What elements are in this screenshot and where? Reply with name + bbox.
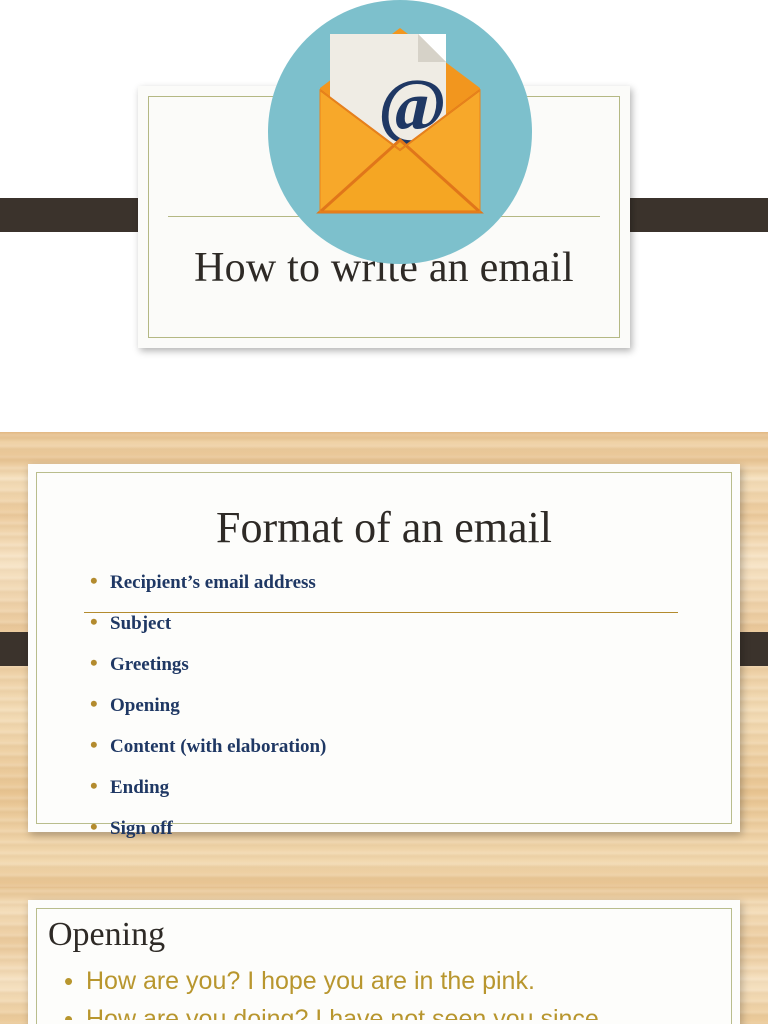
list-item-label: Subject (110, 613, 171, 634)
list-item: How are you doing? I have not seen you s… (64, 1000, 720, 1020)
slide-title: How to write an email @ (0, 0, 768, 432)
format-list: Recipient’s email address Subject Greeti… (88, 570, 700, 857)
list-item: Ending (88, 775, 700, 816)
list-item: Opening (88, 693, 700, 734)
list-item-label: Ending (110, 777, 169, 798)
list-item-label: Opening (110, 695, 180, 716)
list-item-label: Greetings (110, 654, 189, 675)
list-item: Greetings (88, 652, 700, 693)
slide-title: Format of an email (28, 502, 740, 553)
presentation-page: How to write an email @ (0, 0, 768, 1024)
slide-title: Opening (48, 916, 165, 954)
opening-examples-list: How are you? I hope you are in the pink.… (64, 962, 720, 1020)
list-item: Sign off (88, 816, 700, 857)
list-item: Content (with elaboration) (88, 734, 700, 775)
list-item-label: How are you doing? I have not seen you s… (86, 1005, 627, 1020)
list-item-label: Content (with elaboration) (110, 736, 326, 757)
email-envelope-icon: @ (268, 0, 532, 264)
list-item: How are you? I hope you are in the pink. (64, 962, 720, 1000)
list-item: Recipient’s email address (88, 570, 700, 611)
slide-opening: Opening How are you? I hope you are in t… (0, 888, 768, 1024)
list-item-label: How are you? I hope you are in the pink. (86, 967, 535, 995)
content-card: Opening How are you? I hope you are in t… (28, 900, 740, 1024)
list-item-label: Sign off (110, 818, 173, 839)
content-card: Format of an email Recipient’s email add… (28, 464, 740, 832)
list-item: Subject (88, 611, 700, 652)
slide-format-of-an-email: Format of an email Recipient’s email add… (0, 432, 768, 888)
list-item-label: Recipient’s email address (110, 572, 316, 593)
